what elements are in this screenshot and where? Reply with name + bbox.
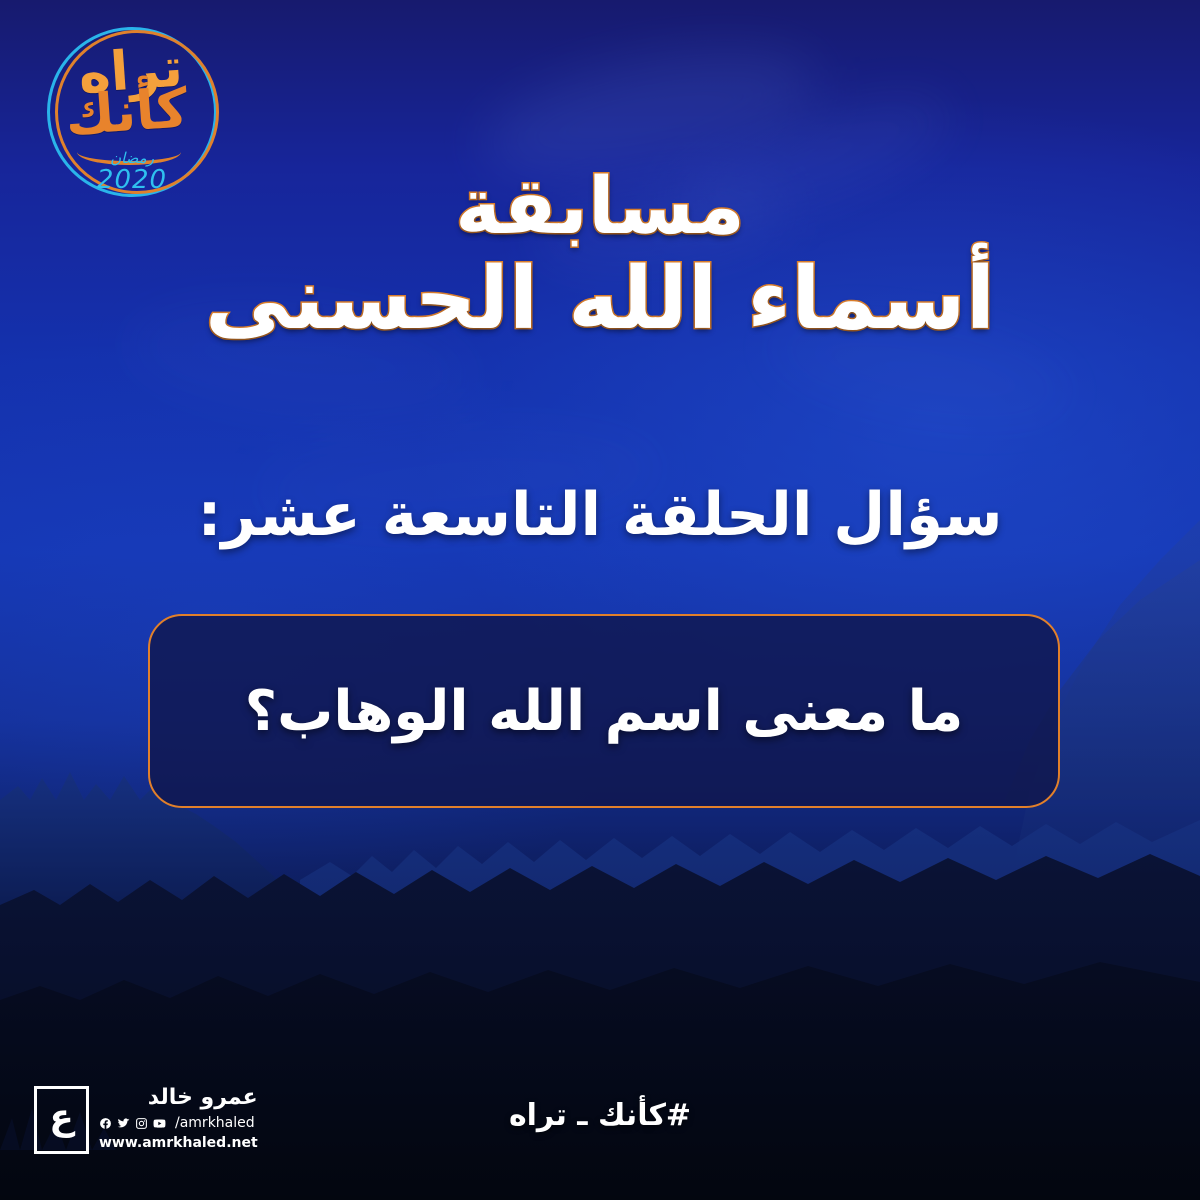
episode-heading: سؤال الحلقة التاسعة عشر: [0, 480, 1200, 550]
question-box: ما معنى اسم الله الوهاب؟ [148, 614, 1060, 808]
campaign-hashtag: #كأنك ـ تراه [0, 1098, 1200, 1133]
competition-title: مسابقة أسماء الله الحسنى [0, 168, 1200, 347]
title-line-2: أسماء الله الحسنى [0, 252, 1200, 347]
website-url[interactable]: www.amrkhaled.net [99, 1135, 258, 1151]
logo-wordmark: تراه كأنك [44, 39, 220, 143]
poster-canvas: تراه كأنك رمضان 2020 مسابقة أسماء الله ا… [0, 0, 1200, 1200]
title-line-1: مسابقة [0, 168, 1200, 246]
question-text: ما معنى اسم الله الوهاب؟ [205, 679, 1004, 744]
logo-word-bottom: كأنك [47, 81, 206, 143]
